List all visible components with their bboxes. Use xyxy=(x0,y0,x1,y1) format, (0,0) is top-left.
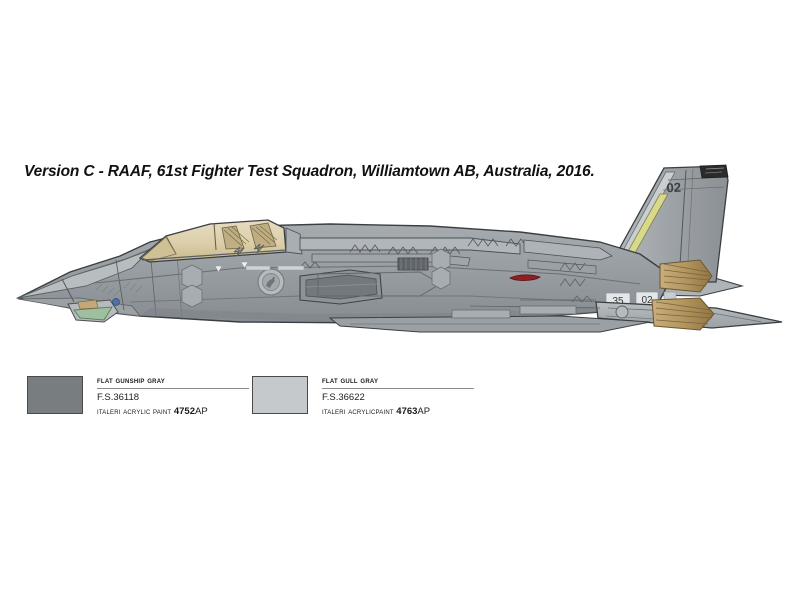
paint-name: Flat Gunship Gray xyxy=(97,370,252,386)
fs-code: F.S.36622 xyxy=(322,392,477,404)
aft-panel xyxy=(452,310,510,318)
paint-reference: Italeri AcrylicPaint 4763AP xyxy=(322,405,477,418)
paint-info: Flat Gull Gray F.S.36622 Italeri Acrylic… xyxy=(322,370,477,418)
page-canvas: Version C - RAAF, 61st Fighter Test Squa… xyxy=(0,0,800,600)
paint-brand: Italeri Acrylic Paint xyxy=(97,406,171,416)
fs-code: F.S.36118 xyxy=(97,392,252,404)
wing-lower-surface xyxy=(330,316,650,332)
aft-access-port xyxy=(616,306,628,318)
paint-suffix: AP xyxy=(417,406,430,417)
aft-panel xyxy=(520,306,576,314)
paint-code: 4763 xyxy=(396,406,417,417)
paint-info: Flat Gunship Gray F.S.36118 Italeri Acry… xyxy=(97,370,252,418)
engine-intake xyxy=(300,270,382,304)
stencil-bar xyxy=(246,266,270,270)
raaf-roundel xyxy=(258,269,284,295)
exhaust-nozzle-upper xyxy=(660,260,712,292)
sensor-lens xyxy=(113,299,120,306)
paint-brand: Italeri AcrylicPaint xyxy=(322,406,394,416)
paint-reference: Italeri Acrylic Paint 4752AP xyxy=(97,405,252,418)
paint-code: 4752 xyxy=(174,406,195,417)
exhaust-nozzle-lower xyxy=(652,298,714,330)
paint-legend: Flat Gunship Gray F.S.36118 Italeri Acry… xyxy=(0,370,800,430)
aircraft-illustration: 02 xyxy=(0,150,800,370)
tail-antenna-cap xyxy=(700,165,728,178)
paint-name: Flat Gull Gray xyxy=(322,370,477,386)
paint-suffix: AP xyxy=(195,406,208,417)
divider xyxy=(322,388,474,389)
color-swatch xyxy=(252,376,308,414)
color-swatch xyxy=(27,376,83,414)
auxiliary-inlet xyxy=(398,258,428,270)
tail-number: 02 xyxy=(666,180,681,196)
divider xyxy=(97,388,249,389)
stencil-bar xyxy=(278,266,304,270)
